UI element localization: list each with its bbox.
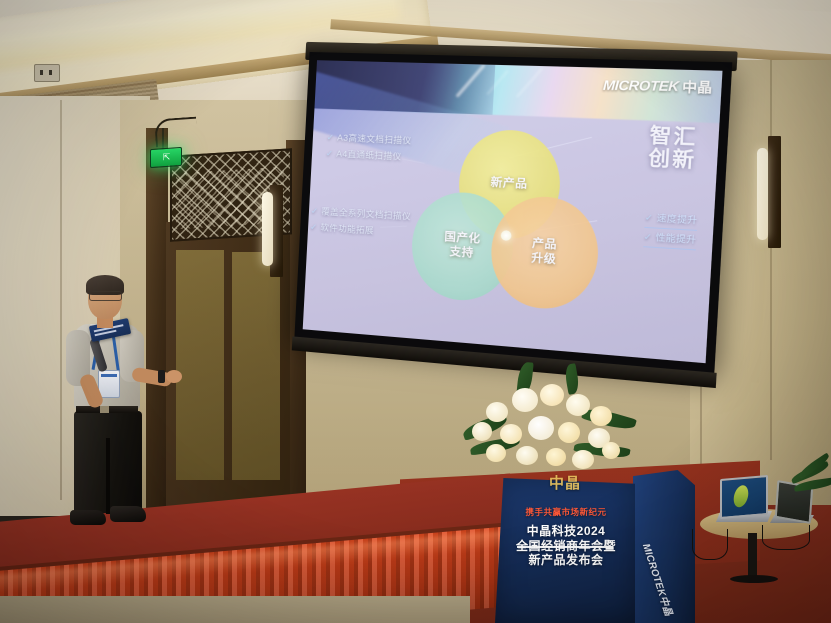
check-icon: ✓: [643, 231, 652, 242]
emergency-exit-sign: ⇱: [150, 147, 182, 168]
slide-content: 新产品 国产化 支持 产品 升级: [303, 106, 720, 363]
door-panel-right[interactable]: [232, 252, 280, 480]
check-icon: ✓: [327, 132, 335, 142]
slide-brand-logo: MICROTEK 中晶: [603, 75, 713, 97]
av-side-table: [700, 495, 820, 585]
wall-sconce-lamp: [757, 148, 768, 240]
presenter-hand-right: [166, 370, 182, 383]
door-panel-left[interactable]: [176, 250, 224, 480]
flower-cream: [546, 448, 566, 466]
flower-cream: [590, 406, 612, 426]
microtek-chinese-mark: 中晶: [682, 76, 713, 97]
headline-line-2: 创新: [648, 148, 697, 173]
podium-title-line-3: 新产品发布会: [499, 553, 633, 568]
slide-headline: 智汇 创新: [648, 125, 699, 173]
flower-cream: [558, 422, 580, 443]
potted-plant: [790, 462, 831, 502]
podium-tagline: 携手共赢市场新纪元: [501, 506, 631, 518]
exit-sign-mount: [162, 128, 164, 150]
podium-title-line-1: 中晶科技2024: [499, 524, 633, 539]
bullet-item: ✓A4直通纸扫描仪: [325, 145, 411, 165]
flower-cream: [486, 444, 506, 462]
bullets-new-product: ✓A3高速文档扫描仪 ✓A4直通纸扫描仪: [325, 129, 412, 165]
floor-power-socket[interactable]: [34, 64, 60, 82]
exit-sign-conduit: [154, 117, 198, 148]
flower-cream: [602, 442, 620, 459]
wall-sconce-lamp: [262, 192, 273, 266]
laptop-screen-thumbnail: [732, 484, 751, 508]
wall-seam: [770, 60, 772, 460]
bullets-product-upgrade: ✓速度提升 ✓性能提升: [643, 209, 698, 251]
presenter: [62, 278, 182, 540]
conference-badge: [98, 370, 120, 398]
flower-white: [572, 450, 594, 469]
table-leg: [748, 533, 757, 579]
presenter-leg-separation: [106, 438, 110, 514]
venn-label-localization: 国产化 支持: [443, 231, 481, 262]
floor-foreground: [0, 596, 470, 623]
speaking-podium: 中晶 携手共赢市场新纪元 中晶科技2024 全国经销商年会暨 新产品发布会 MI…: [495, 470, 700, 623]
check-icon: ✓: [310, 222, 318, 232]
primary-laptop-screen[interactable]: [720, 475, 768, 519]
podium-gold-mark: 中晶: [513, 472, 617, 502]
bullet-item: ✓性能提升: [643, 228, 697, 251]
running-man-icon: ⇱: [163, 153, 170, 162]
flower-cream: [540, 384, 564, 406]
check-icon: ✓: [311, 206, 319, 216]
check-icon: ✓: [645, 212, 654, 223]
projection-screen: MICROTEK 中晶 新产品 国产化 支持: [294, 52, 732, 373]
flower-lily: [528, 416, 554, 440]
presenter-belt-buckle: [100, 406, 109, 413]
wristwatch: [158, 370, 165, 383]
table-base: [730, 575, 778, 583]
power-cable: [762, 525, 810, 550]
venn-label-product-upgrade: 产品 升级: [531, 237, 558, 267]
venn-label-new-product: 新产品: [490, 176, 528, 192]
conference-presentation-scene: ⇱ MICROTEK 中晶: [0, 0, 831, 623]
presenter-shoe-left: [70, 510, 106, 525]
podium-divider-rule: [517, 546, 613, 548]
slide-surface: MICROTEK 中晶 新产品 国产化 支持: [303, 60, 723, 363]
check-icon: ✓: [326, 148, 334, 158]
foliage-leaf: [563, 363, 580, 395]
headline-line-1: 智汇: [649, 125, 698, 150]
flower-white: [566, 394, 590, 416]
presenter-shoe-right: [110, 506, 146, 522]
flower-white: [486, 402, 508, 422]
bullets-localization: ✓覆盖全系列文档扫描仪 ✓软件功能拓展: [310, 203, 412, 242]
flower-white: [516, 446, 538, 465]
flower-cream: [500, 424, 522, 444]
eyeglasses-icon: [89, 291, 122, 301]
microtek-wordmark: MICROTEK: [603, 77, 680, 94]
power-cable: [692, 529, 728, 560]
venn-diagram: 新产品 国产化 支持 产品 升级: [408, 126, 622, 326]
flower-white: [472, 422, 492, 441]
flower-white: [512, 388, 538, 412]
floral-arrangement: [462, 368, 640, 478]
wall-sconce-bracket: [768, 136, 781, 248]
